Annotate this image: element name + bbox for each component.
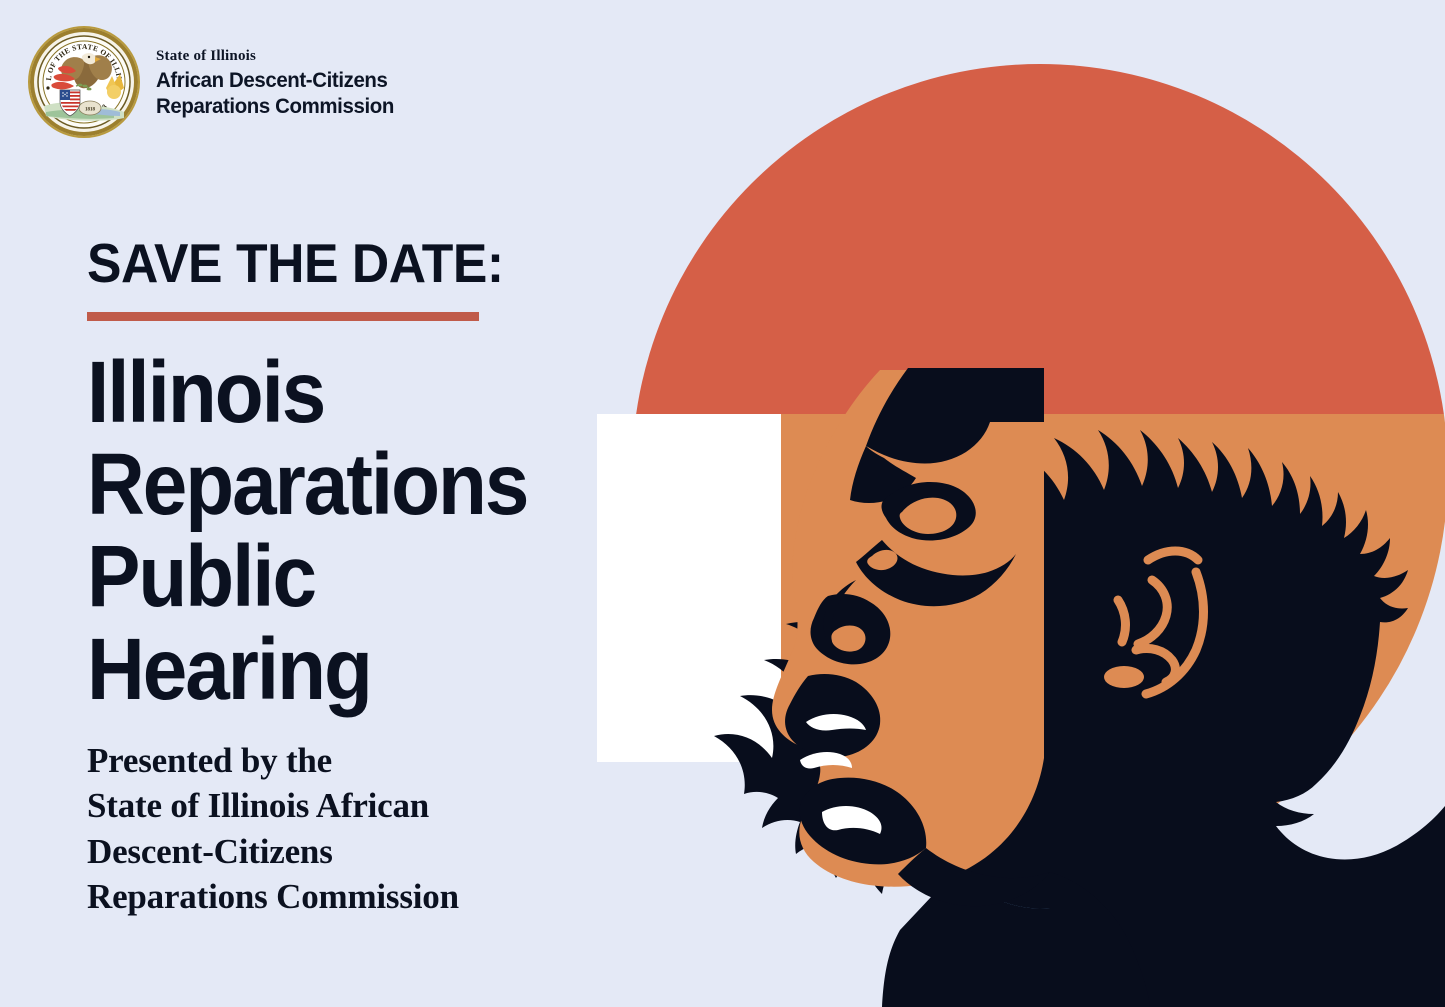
- agency-logo-lockup: SEAL OF THE STATE OF ILLINOIS AUG. 26th …: [28, 26, 406, 138]
- presented-by-text: Presented by the State of Illinois Afric…: [87, 738, 607, 920]
- illinois-state-seal-icon: SEAL OF THE STATE OF ILLINOIS AUG. 26th …: [28, 26, 140, 138]
- earlobe-detail: [1104, 666, 1144, 688]
- save-the-date-poster: SEAL OF THE STATE OF ILLINOIS AUG. 26th …: [0, 0, 1445, 1007]
- white-accent-block: [597, 414, 781, 762]
- svg-text:1818: 1818: [85, 108, 96, 113]
- agency-name-line-2: Reparations Commission: [156, 94, 394, 120]
- agency-name-line-1: African Descent-Citizens: [156, 68, 394, 94]
- accent-rule: [87, 312, 479, 321]
- agency-state-line: State of Illinois: [156, 48, 406, 65]
- poster-text-column: SAVE THE DATE: Illinois Reparations Publ…: [87, 236, 607, 920]
- page-title: Illinois Reparations Public Hearing: [87, 347, 565, 716]
- save-the-date-eyebrow: SAVE THE DATE:: [87, 236, 576, 291]
- agency-name-block: State of Illinois African Descent-Citize…: [156, 44, 406, 119]
